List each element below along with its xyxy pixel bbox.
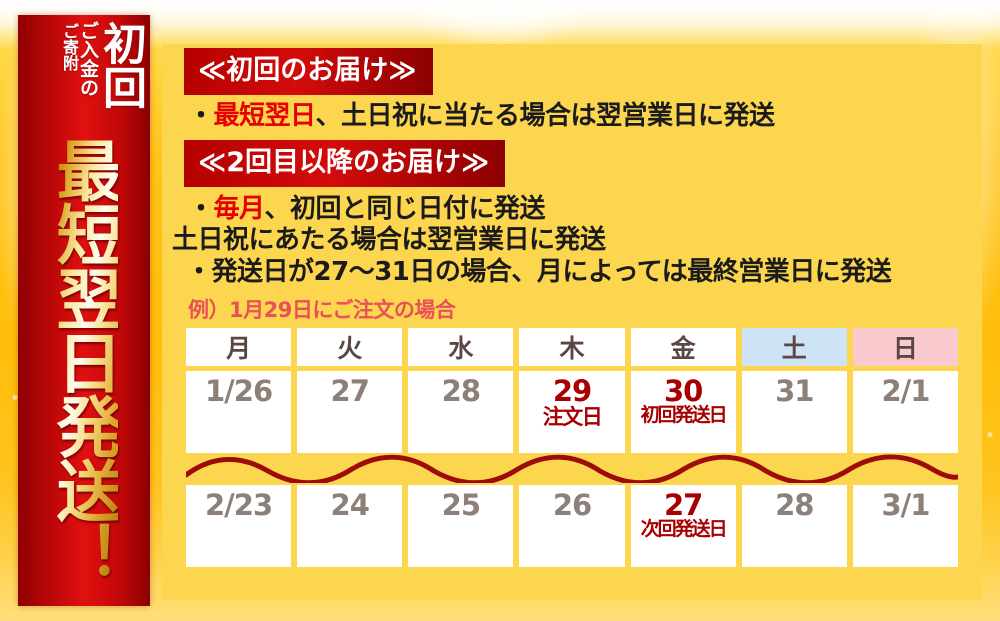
section-repeat-delivery: ≪2回目以降のお届け≫ ・毎月、初回と同じ日付に発送 土日祝にあたる場合は翌営業…	[162, 140, 982, 288]
weekday-header-fri: 金	[631, 328, 736, 366]
section-first-delivery: ≪初回のお届け≫ ・最短翌日、土日祝に当たる場合は翌営業日に発送	[162, 48, 982, 132]
calendar-cell: 2/1	[853, 371, 958, 453]
bullet-marker: ・	[186, 257, 212, 287]
banner-eyebrow-big: 初回	[98, 21, 142, 109]
day-tag-order-date: 注文日	[543, 406, 602, 428]
promo-banner-canvas: 初回 ご入金の ご寄附 最短翌日発送！ ≪初回のお届け≫ ・最短翌日、土日祝に当…	[0, 0, 1000, 621]
banner-headline: 最短翌日発送！	[50, 137, 117, 585]
left-red-banner: 初回 ご入金の ご寄附 最短翌日発送！	[18, 15, 150, 606]
calendar-week-row-1: 1/26 27 28 29 注文日	[186, 371, 958, 453]
day-number: 2/1	[881, 376, 929, 406]
calendar-cell: 25	[408, 485, 513, 567]
calendar-second-week-wrap: 2/23 24 25 26	[186, 485, 958, 567]
calendar-cell: 3/1	[853, 485, 958, 567]
day-number: 24	[331, 490, 369, 520]
line-rest: 、土日祝に当たる場合は翌営業日に発送	[316, 101, 775, 131]
repeat-delivery-line-3: ・発送日が27〜31日の場合、月によっては最終営業日に発送	[162, 256, 982, 288]
example-note: 例）1月29日にご注文の場合	[162, 288, 982, 326]
day-number: 30	[664, 376, 702, 406]
calendar-cell: 31	[742, 371, 847, 453]
day-number: 27	[664, 490, 702, 520]
day-number: 28	[442, 376, 480, 406]
calendar-cell: 28	[742, 485, 847, 567]
calendar-cell: 26	[519, 485, 624, 567]
wavy-separator-icon	[186, 453, 958, 483]
calendar-cell: 24	[297, 485, 402, 567]
calendar-cell: 27	[297, 371, 402, 453]
calendar-header-wrap: 月 火 水 木 金 土 日 1/26 27	[186, 328, 958, 453]
repeat-delivery-line-1: ・毎月、初回と同じ日付に発送	[162, 187, 982, 225]
banner-headline-wrap: 最短翌日発送！	[18, 120, 150, 602]
section-header-first-delivery: ≪初回のお届け≫	[184, 48, 433, 95]
highlight-text: 毎月	[214, 194, 265, 224]
calendar-cell: 28	[408, 371, 513, 453]
day-tag-first-ship-date: 初回発送日	[641, 406, 726, 426]
day-number: 2/23	[205, 490, 272, 520]
day-number: 29	[553, 376, 591, 406]
calendar-cell-first-ship-date: 30 初回発送日	[631, 371, 736, 453]
repeat-delivery-line-2: 土日祝にあたる場合は翌営業日に発送	[162, 224, 982, 256]
calendar-week-row-2: 2/23 24 25 26	[186, 485, 958, 567]
content-panel: ≪初回のお届け≫ ・最短翌日、土日祝に当たる場合は翌営業日に発送 ≪2回目以降の…	[162, 44, 982, 600]
day-number: 1/26	[205, 376, 272, 406]
calendar-cell: 1/26	[186, 371, 291, 453]
line-rest: 、初回と同じ日付に発送	[265, 194, 546, 224]
weekday-header-mon: 月	[186, 328, 291, 366]
day-number: 28	[775, 490, 813, 520]
highlight-text: 最短翌日	[214, 101, 316, 131]
weekday-header-thu: 木	[519, 328, 624, 366]
bullet-marker: ・	[188, 101, 214, 131]
line-rest: 土日祝にあたる場合は翌営業日に発送	[172, 225, 606, 255]
banner-eyebrow-column-1: ご寄附	[61, 21, 77, 71]
banner-eyebrow-group: 初回 ご入金の ご寄附	[18, 15, 150, 120]
first-delivery-line-1: ・最短翌日、土日祝に当たる場合は翌営業日に発送	[162, 95, 982, 132]
calendar-cell-order-date: 29 注文日	[519, 371, 624, 453]
calendar-cell: 2/23	[186, 485, 291, 567]
weekday-header-sun: 日	[853, 328, 958, 366]
calendar-cell-next-ship-date: 27 次回発送日	[631, 485, 736, 567]
day-tag-next-ship-date: 次回発送日	[641, 520, 726, 540]
day-number: 31	[775, 376, 813, 406]
shipping-calendar: 月 火 水 木 金 土 日 1/26 27	[162, 328, 982, 567]
line-rest: 発送日が27〜31日の場合、月によっては最終営業日に発送	[212, 257, 892, 287]
day-number: 3/1	[881, 490, 929, 520]
bullet-marker: ・	[188, 194, 214, 224]
weekday-header-tue: 火	[297, 328, 402, 366]
weekday-header-wed: 水	[408, 328, 513, 366]
day-number: 26	[553, 490, 591, 520]
weekday-header-sat: 土	[742, 328, 847, 366]
day-number: 27	[331, 376, 369, 406]
calendar-weekday-row: 月 火 水 木 金 土 日	[186, 328, 958, 366]
section-header-repeat-delivery: ≪2回目以降のお届け≫	[184, 140, 505, 187]
day-number: 25	[442, 490, 480, 520]
